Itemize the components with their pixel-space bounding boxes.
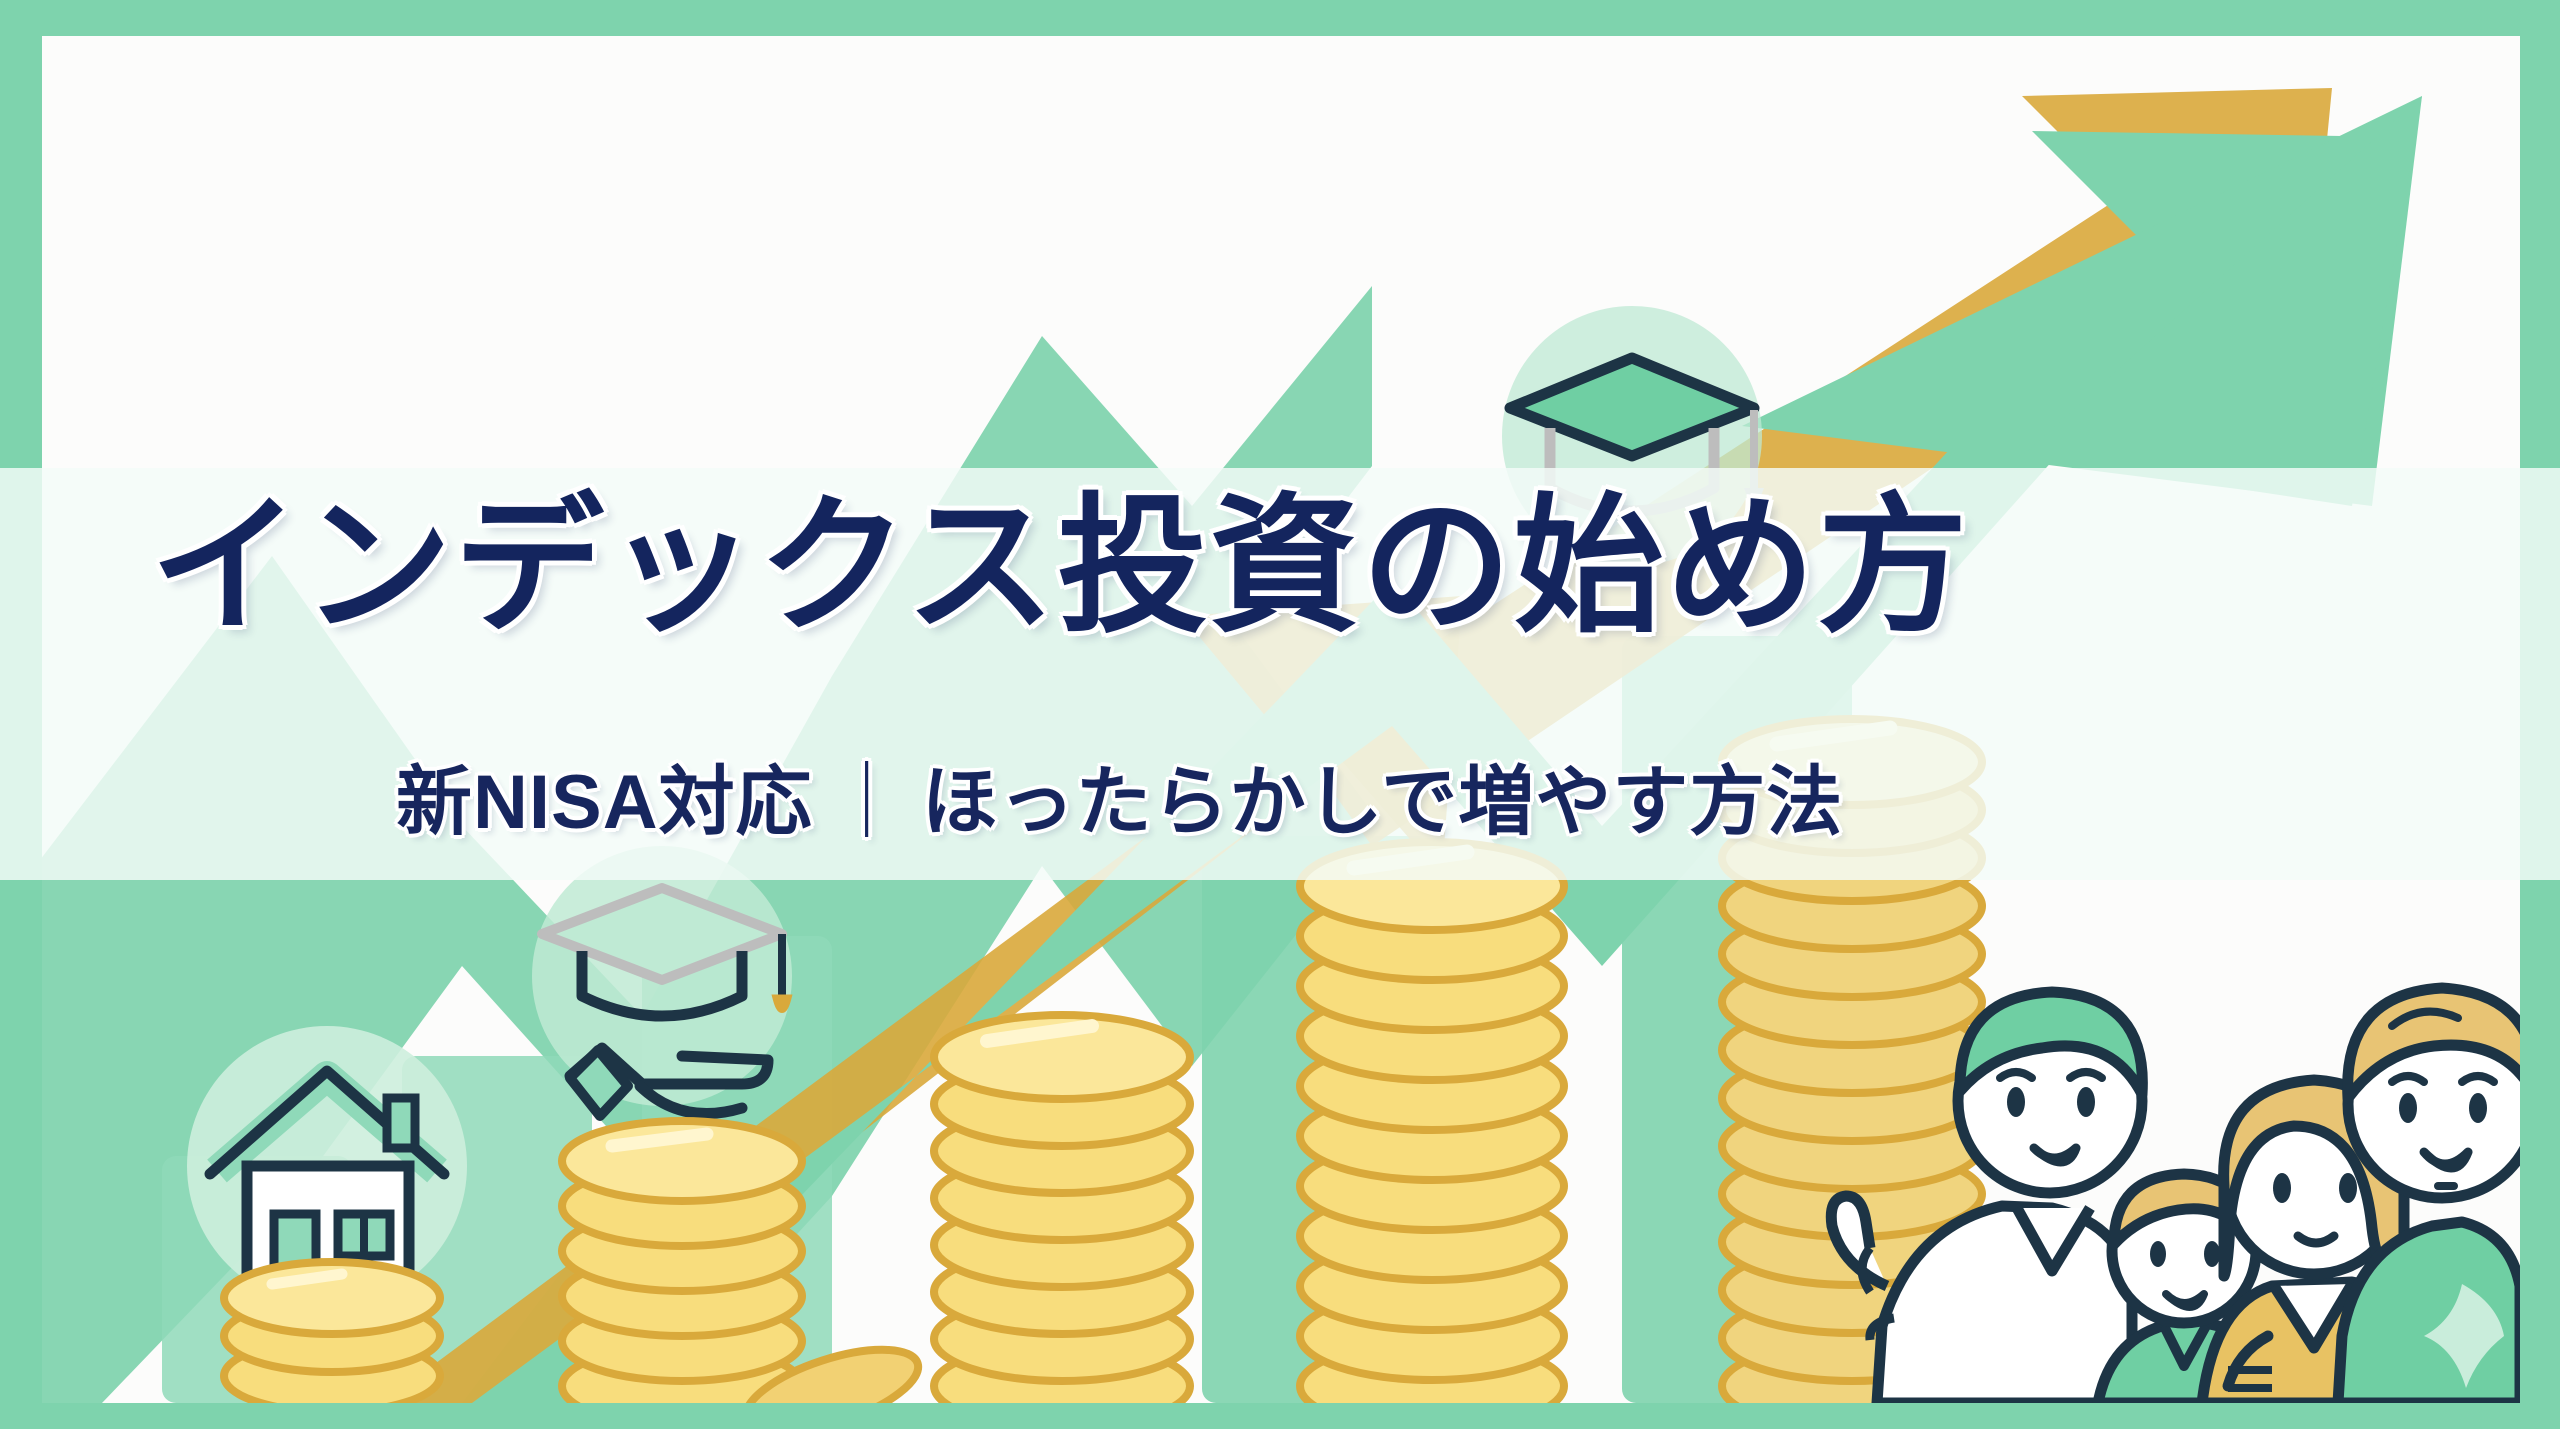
frame-left-border — [0, 0, 42, 1429]
coin-stack-4 — [1300, 842, 1564, 1403]
coin-stack-1 — [224, 1262, 440, 1403]
graduation-cap-icon — [1502, 306, 1764, 566]
frame-top-border — [0, 0, 2560, 36]
poster-root: インデックス投資の始め方 新NISA対応｜ほったらかしで増やす方法 — [0, 0, 2560, 1429]
coin-stack-2 — [562, 1121, 927, 1403]
frame-bottom-border — [0, 1403, 2560, 1429]
frame-right-border — [2520, 0, 2560, 1429]
poster-canvas — [42, 36, 2520, 1403]
background-illustration — [42, 36, 2520, 1403]
coin-stack-3 — [934, 1015, 1190, 1403]
